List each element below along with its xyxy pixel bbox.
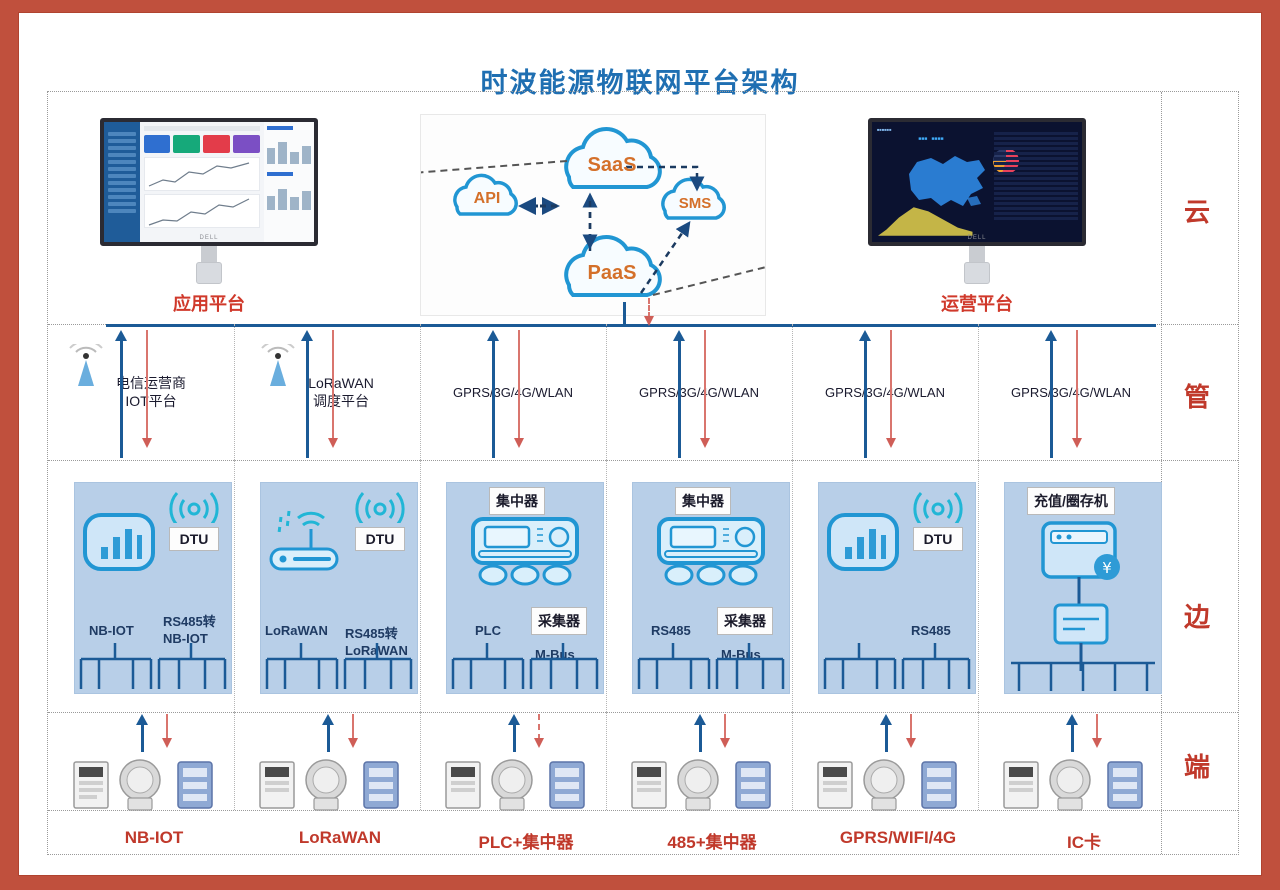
signal-bars-icon-1 xyxy=(83,511,155,573)
dtu-tag-col1[interactable]: DTU xyxy=(169,527,219,551)
collector-tag-col3[interactable]: 采集器 xyxy=(531,607,587,635)
edge-bus-col2 xyxy=(261,643,419,693)
monitor-brand-right: DELL xyxy=(872,235,1082,241)
meter-group-6 xyxy=(1000,756,1150,812)
kiosk-tag-col6[interactable]: 充值/圈存机 xyxy=(1027,487,1115,515)
api-label: API xyxy=(457,173,517,219)
term-col-sep-5 xyxy=(978,712,979,810)
dashboard-side-panel xyxy=(264,122,314,242)
edge-left-label-col2: LoRaWAN xyxy=(265,623,328,638)
light-dashboard-mock xyxy=(104,122,314,242)
meter-group-5 xyxy=(814,756,964,812)
edge-bus-col5 xyxy=(819,643,977,693)
edge-card-col6[interactable]: 充值/圈存机 ¥ xyxy=(1004,482,1162,694)
edge-left-label-col3: PLC xyxy=(475,623,501,638)
edge-col-sep-5 xyxy=(978,460,979,712)
dashboard-line-chart-2 xyxy=(144,194,260,228)
dark-dashboard-metrics: ■■■ ■■■■ xyxy=(918,136,943,142)
dtu-tag-col5[interactable]: DTU xyxy=(913,527,963,551)
network-label-5: GPRS/3G/4G/WLAN xyxy=(792,384,978,402)
monitor-brand-left: DELL xyxy=(104,235,314,241)
paas-downlink-line xyxy=(648,298,650,318)
edge-bus-col6 xyxy=(1005,653,1163,693)
arrow-paas-to-ops-platform xyxy=(653,251,767,295)
poster-page: 时波能源物联网平台架构 云 管 边 端 xyxy=(18,12,1262,876)
operation-platform-screen: ■■■■■■ ■■■ ■■■■ xyxy=(868,118,1086,246)
term-col-sep-3 xyxy=(606,712,607,810)
edge-col-sep-3 xyxy=(606,460,607,712)
meter-group-1 xyxy=(70,756,220,812)
dashboard-bar-chart-2 xyxy=(267,184,311,210)
paas-node[interactable]: PaaS xyxy=(569,239,655,301)
api-node[interactable]: API xyxy=(457,173,517,219)
dashboard-bar-chart-1 xyxy=(267,138,311,164)
bottom-name-col1: NB-IOT xyxy=(74,828,234,848)
collector-tag-col4[interactable]: 采集器 xyxy=(717,607,773,635)
dashboard-kpi-cards xyxy=(144,135,260,153)
cloud-layer: DELL 应用平台 xyxy=(48,92,1162,324)
concentrator-icon-4 xyxy=(651,517,771,595)
edge-col-sep-4 xyxy=(792,460,793,712)
monitor-base-left xyxy=(196,262,222,284)
dark-dashboard-mock: ■■■■■■ ■■■ ■■■■ xyxy=(872,122,1082,242)
edge-right-label-col1-line1: RS485转 xyxy=(163,611,216,630)
kiosk-icon-6: ¥ xyxy=(1033,521,1137,671)
concentrator-tag-col3[interactable]: 集中器 xyxy=(489,487,545,515)
dashboard-toolbar xyxy=(144,126,260,131)
electric-meter-icon xyxy=(74,762,108,808)
concentrator-icon-3 xyxy=(465,517,585,595)
monitor-neck-left xyxy=(201,246,217,262)
dark-dashboard-area-chart xyxy=(878,195,973,236)
dashboard-sidebar xyxy=(104,122,140,242)
bottom-name-col5: GPRS/WIFI/4G xyxy=(818,828,978,848)
wireless-signal-icon-2 xyxy=(353,489,407,523)
signal-bars-icon-5 xyxy=(827,511,899,573)
edge-card-col2[interactable]: DTU LoRaWAN RS485转 LoRaWAN xyxy=(260,482,418,694)
application-platform-monitor[interactable]: DELL 应用平台 xyxy=(100,118,318,316)
edge-left-label-col4: RS485 xyxy=(651,623,691,638)
network-label-1-line1: 电信运营商 xyxy=(76,374,226,392)
network-label-4: GPRS/3G/4G/WLAN xyxy=(606,384,792,402)
term-col-sep-1 xyxy=(234,712,235,810)
net-col-sep-1 xyxy=(234,324,235,460)
saas-label: SaaS xyxy=(569,131,655,193)
wireless-signal-icon-5 xyxy=(911,489,965,523)
operation-platform-monitor[interactable]: ■■■■■■ ■■■ ■■■■ xyxy=(868,118,1086,316)
dark-dashboard-table xyxy=(994,132,1078,222)
term-col-sep-4 xyxy=(792,712,793,810)
bottom-name-col3: PLC+集中器 xyxy=(446,828,606,853)
bottom-name-col2: LoRaWAN xyxy=(260,828,420,848)
svg-text:¥: ¥ xyxy=(1102,559,1112,577)
edge-col-sep-1 xyxy=(234,460,235,712)
meter-group-3 xyxy=(442,756,592,812)
network-label-2-line2: 调度平台 xyxy=(266,392,416,410)
dashboard-line-chart-1 xyxy=(144,157,260,191)
network-label-2-line1: LoRaWAN xyxy=(266,374,416,392)
wireless-signal-icon-1 xyxy=(167,489,221,523)
concentrator-tag-col4[interactable]: 集中器 xyxy=(675,487,731,515)
saas-node[interactable]: SaaS xyxy=(569,131,655,193)
water-meter-icon xyxy=(178,762,212,808)
layer-label-edge: 边 xyxy=(1162,597,1232,634)
poster-frame: 时波能源物联网平台架构 云 管 边 端 xyxy=(0,0,1280,890)
network-layer: 电信运营商 IOT平台 LoRaWAN 调度平台 GPRS/3G/4G/WLAN… xyxy=(48,324,1162,460)
network-label-2: LoRaWAN 调度平台 xyxy=(266,374,416,410)
terminal-layer xyxy=(48,712,1162,810)
network-label-1-line2: IOT平台 xyxy=(76,392,226,410)
layer-label-terminal: 端 xyxy=(1162,747,1232,784)
cloud-services-group: SaaS API SMS PaaS xyxy=(420,114,766,316)
meter-group-4 xyxy=(628,756,778,812)
bottom-name-col4: 485+集中器 xyxy=(632,828,792,853)
dashboard-main xyxy=(140,122,264,242)
edge-bus-col4 xyxy=(633,643,791,693)
edge-layer: DTU NB-IOT RS485转 NB-IOT xyxy=(48,460,1162,712)
bottom-name-col6: IC卡 xyxy=(1004,828,1164,853)
edge-bus-col3 xyxy=(447,643,605,693)
network-label-1: 电信运营商 IOT平台 xyxy=(76,374,226,410)
meter-group-2 xyxy=(256,756,406,812)
bottom-names-row: NB-IOT LoRaWAN PLC+集中器 485+集中器 GPRS/WIFI… xyxy=(48,810,1162,870)
paas-uplink-line xyxy=(623,302,626,326)
gas-meter-icon xyxy=(120,760,160,810)
edge-col-sep-2 xyxy=(420,460,421,712)
sms-label: SMS xyxy=(665,177,725,223)
edge-bus-col1 xyxy=(75,643,233,693)
application-platform-caption: 应用平台 xyxy=(100,290,318,316)
edge-right-label-col2-line1: RS485转 xyxy=(345,623,398,642)
edge-card-col5[interactable]: DTU RS485 xyxy=(818,482,976,694)
router-icon-2 xyxy=(267,505,345,575)
layer-label-pipe: 管 xyxy=(1162,377,1232,414)
paas-label: PaaS xyxy=(569,239,655,301)
layer-label-cloud: 云 xyxy=(1162,192,1232,229)
sms-node[interactable]: SMS xyxy=(665,177,725,223)
monitor-base-right xyxy=(964,262,990,284)
network-label-6: GPRS/3G/4G/WLAN xyxy=(978,384,1164,402)
dtu-tag-col2[interactable]: DTU xyxy=(355,527,405,551)
diagram-canvas: 云 管 边 端 xyxy=(47,91,1239,855)
edge-right-label-col5: RS485 xyxy=(911,623,951,638)
network-label-3: GPRS/3G/4G/WLAN xyxy=(420,384,606,402)
application-platform-screen: DELL xyxy=(100,118,318,246)
term-col-sep-2 xyxy=(420,712,421,810)
edge-card-col3[interactable]: 集中器 PLC 采集器 M-Bus xyxy=(446,482,604,694)
edge-card-col1[interactable]: DTU NB-IOT RS485转 NB-IOT xyxy=(74,482,232,694)
edge-left-label-col1: NB-IOT xyxy=(89,623,134,638)
monitor-neck-right xyxy=(969,246,985,262)
edge-card-col4[interactable]: 集中器 RS485 采集器 M-Bus xyxy=(632,482,790,694)
operation-platform-caption: 运营平台 xyxy=(868,290,1086,316)
